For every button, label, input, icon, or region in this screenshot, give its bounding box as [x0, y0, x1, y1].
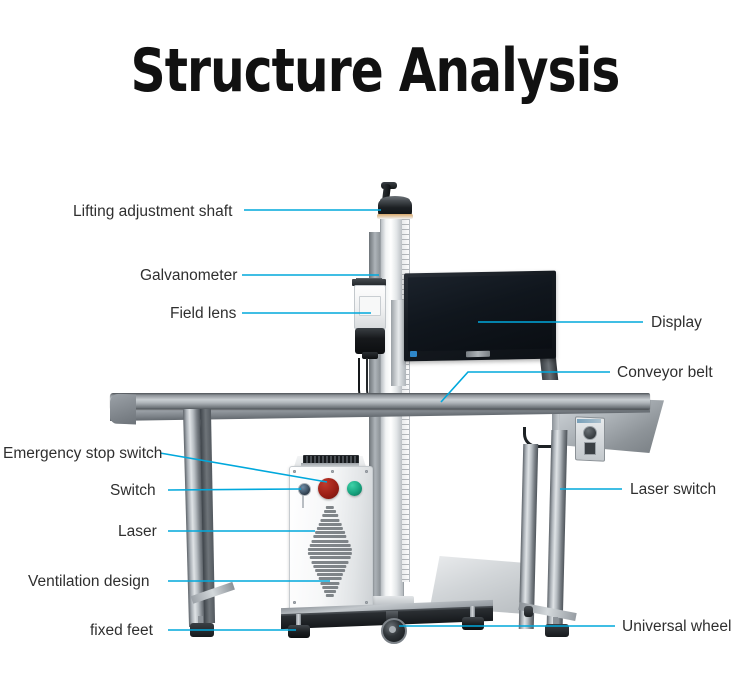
ventilation-louver	[313, 565, 346, 568]
fixed-foot-left	[190, 623, 214, 637]
callout-label-conveyor-belt: Conveyor belt	[617, 365, 713, 381]
ventilation-louvers	[306, 506, 354, 598]
callout-label-laser-switch: Laser switch	[630, 482, 716, 498]
panel-screw	[365, 470, 368, 473]
laser-switch-toggle[interactable]	[584, 442, 596, 455]
key-switch-stem	[302, 494, 304, 508]
ventilation-louver	[310, 556, 351, 559]
monitor-brand-logo	[466, 351, 490, 357]
ventilation-louver	[317, 573, 343, 576]
conveyor-leg-right-rear	[547, 430, 568, 630]
universal-wheel-hub	[389, 626, 396, 633]
universal-wheel-rear	[524, 606, 533, 617]
emergency-stop-button[interactable]	[318, 478, 339, 499]
callout-label-lifting-adjustment-shaft: Lifting adjustment shaft	[73, 204, 232, 220]
ventilation-louver	[324, 590, 336, 593]
field-lens-body	[355, 328, 385, 354]
callout-label-ventilation-design: Ventilation design	[28, 574, 150, 590]
ventilation-louver	[308, 552, 352, 555]
ventilation-louver	[320, 582, 339, 585]
conveyor-belt-surface	[110, 393, 650, 409]
ventilation-louver	[313, 535, 346, 538]
ventilation-louver	[326, 594, 334, 597]
monitor-screen[interactable]	[408, 275, 552, 352]
handwheel-collar	[377, 214, 413, 219]
callout-label-emergency-stop-switch: Emergency stop switch	[3, 446, 162, 462]
laser-switch-panel-label	[577, 419, 601, 423]
ventilation-louver	[315, 531, 345, 534]
panel-screw	[365, 601, 368, 604]
laser-switch-knob[interactable]	[583, 426, 597, 440]
ventilation-louver	[319, 577, 342, 580]
ventilation-louver	[315, 569, 345, 572]
conveyor-leg-right-front	[519, 444, 539, 629]
panel-screw	[293, 601, 296, 604]
callout-label-fixed-feet: fixed feet	[90, 623, 153, 639]
monitor-power-led	[410, 351, 417, 357]
ventilation-louver	[308, 548, 352, 551]
ventilation-louver	[312, 561, 349, 564]
ventilation-louver	[326, 506, 334, 509]
panel-screw	[293, 470, 296, 473]
monitor-stand	[540, 356, 559, 380]
callout-label-field-lens: Field lens	[170, 306, 236, 322]
callout-label-laser: Laser	[118, 524, 157, 540]
leveling-foot-right	[462, 617, 484, 630]
key-switch[interactable]	[298, 483, 311, 496]
ventilation-louver	[312, 540, 349, 543]
callout-label-universal-wheel: Universal wheel	[622, 619, 731, 635]
diagram-canvas: Structure Analysis	[0, 0, 750, 686]
callout-label-display: Display	[651, 315, 702, 331]
callout-label-galvanometer: Galvanometer	[140, 268, 237, 284]
start-button[interactable]	[347, 481, 362, 496]
callout-label-switch: Switch	[110, 483, 156, 499]
galvanometer-panel	[359, 296, 381, 316]
leveling-foot-left	[288, 625, 310, 638]
panel-screw	[331, 470, 334, 473]
ventilation-louver	[310, 544, 351, 547]
ventilation-louver	[317, 527, 343, 530]
ventilation-louver	[322, 514, 338, 517]
ventilation-louver	[320, 519, 339, 522]
ventilation-louver	[322, 586, 338, 589]
ventilation-louver	[319, 523, 342, 526]
ventilation-louver	[324, 510, 336, 513]
fixed-foot-right	[545, 624, 569, 637]
conveyor-left-end-cap	[110, 394, 136, 425]
